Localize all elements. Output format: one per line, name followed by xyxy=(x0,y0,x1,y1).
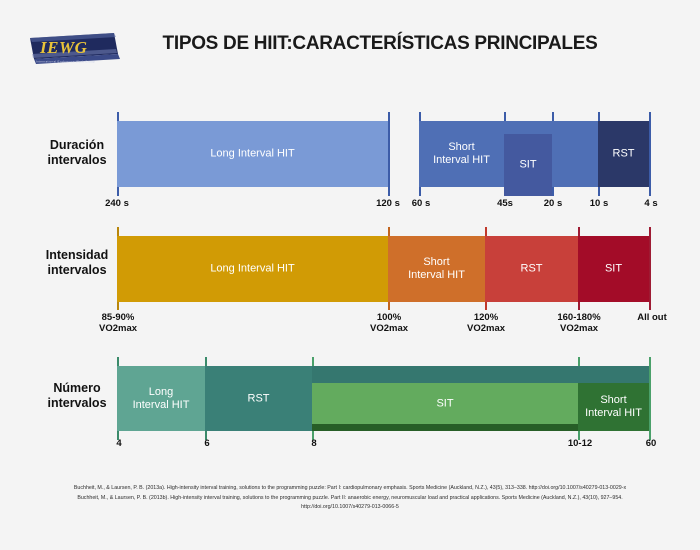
bar-duracion-sit[interactable]: SIT xyxy=(504,134,552,196)
page-title: TIPOS DE HIIT:CARACTERÍSTICAS PRINCIPALE… xyxy=(120,33,640,55)
row-label-line2: intervalos xyxy=(22,396,132,411)
axis-label-60s: 60 s xyxy=(386,198,456,209)
row-label-duracion: Duración intervalos xyxy=(22,138,132,168)
axis-label-100-vo2max: 100% VO2max xyxy=(354,312,424,334)
bar-intensidad-sit[interactable]: SIT xyxy=(578,236,649,302)
axis-label-160180-vo2max: 160-180% VO2max xyxy=(544,312,614,334)
bar-duracion-rst[interactable]: RST xyxy=(598,121,649,187)
bar-duracion-short-interval-hit[interactable]: Short Interval HIT xyxy=(419,121,504,187)
bar-label: RST xyxy=(598,148,649,161)
axis-label-60: 60 xyxy=(616,438,686,449)
bar-duracion-long-interval-hit[interactable]: Long Interval HIT xyxy=(117,121,388,187)
logo-graphic: IEWG International Endurance Work Group xyxy=(26,28,126,70)
reference-line-3: http://doi.org/10.1007/s40279-013-0066-5 xyxy=(35,503,665,513)
row-label-line2: intervalos xyxy=(22,263,132,278)
bar-numero-sit[interactable]: SIT xyxy=(312,383,578,424)
bar-label: Short Interval HIT xyxy=(578,394,649,420)
row-label-line2: intervalos xyxy=(22,153,132,168)
axis-label-8: 8 xyxy=(279,438,349,449)
bar-label: SIT xyxy=(504,159,552,172)
bar-numero-short-interval-hit[interactable]: Short Interval HIT xyxy=(578,383,649,431)
reference-line-1: Buchheit, M., & Laursen, P. B. (2013a). … xyxy=(35,484,665,494)
bar-label: Short Interval HIT xyxy=(388,256,485,282)
iewg-logo: IEWG International Endurance Work Group xyxy=(26,28,126,70)
bar-label: Long Interval HIT xyxy=(117,263,388,276)
axis-label-all-out: All out xyxy=(617,312,687,323)
axis-label-8590-vo2max: 85-90% VO2max xyxy=(83,312,153,334)
bar-numero-teal-band xyxy=(312,366,649,383)
axis-label-120-vo2max: 120% VO2max xyxy=(451,312,521,334)
bar-numero-long-interval-hit[interactable]: Long Interval HIT xyxy=(117,366,205,431)
tick-line-60 xyxy=(649,357,651,440)
bar-label: SIT xyxy=(312,397,578,410)
tick-line-120s xyxy=(388,112,390,196)
axis-label-6: 6 xyxy=(172,438,242,449)
tick-line-4s xyxy=(649,112,651,196)
infographic-page: IEWG International Endurance Work Group … xyxy=(0,0,700,550)
svg-text:International Endurance Work: International Endurance Work Group xyxy=(36,60,95,64)
bar-label: Short Interval HIT xyxy=(419,141,504,167)
bar-label: RST xyxy=(485,263,578,276)
axis-label-4s: 4 s xyxy=(616,198,686,209)
bar-label: Long Interval HIT xyxy=(117,148,388,161)
bar-intensidad-short-interval-hit[interactable]: Short Interval HIT xyxy=(388,236,485,302)
tick-line-allout xyxy=(649,227,651,310)
bar-numero-rst[interactable]: RST xyxy=(205,366,312,431)
row-label-line1: Número xyxy=(22,381,132,396)
bar-label: Long Interval HIT xyxy=(117,386,205,412)
row-label-intensidad: Intensidad intervalos xyxy=(22,248,132,278)
bar-intensidad-long-interval-hit[interactable]: Long Interval HIT xyxy=(117,236,388,302)
row-label-numero: Número intervalos xyxy=(22,381,132,411)
bar-label: SIT xyxy=(578,263,649,276)
axis-label-240s: 240 s xyxy=(82,198,152,209)
references-block: Buchheit, M., & Laursen, P. B. (2013a). … xyxy=(35,484,665,513)
reference-line-2: Buchheit, M., & Laursen, P. B. (2013b). … xyxy=(35,494,665,504)
row-label-line1: Duración xyxy=(22,138,132,153)
axis-label-4: 4 xyxy=(84,438,154,449)
axis-label-1012: 10-12 xyxy=(545,438,615,449)
bar-intensidad-rst[interactable]: RST xyxy=(485,236,578,302)
row-label-line1: Intensidad xyxy=(22,248,132,263)
bar-label: RST xyxy=(205,392,312,405)
svg-text:IEWG: IEWG xyxy=(39,38,88,57)
